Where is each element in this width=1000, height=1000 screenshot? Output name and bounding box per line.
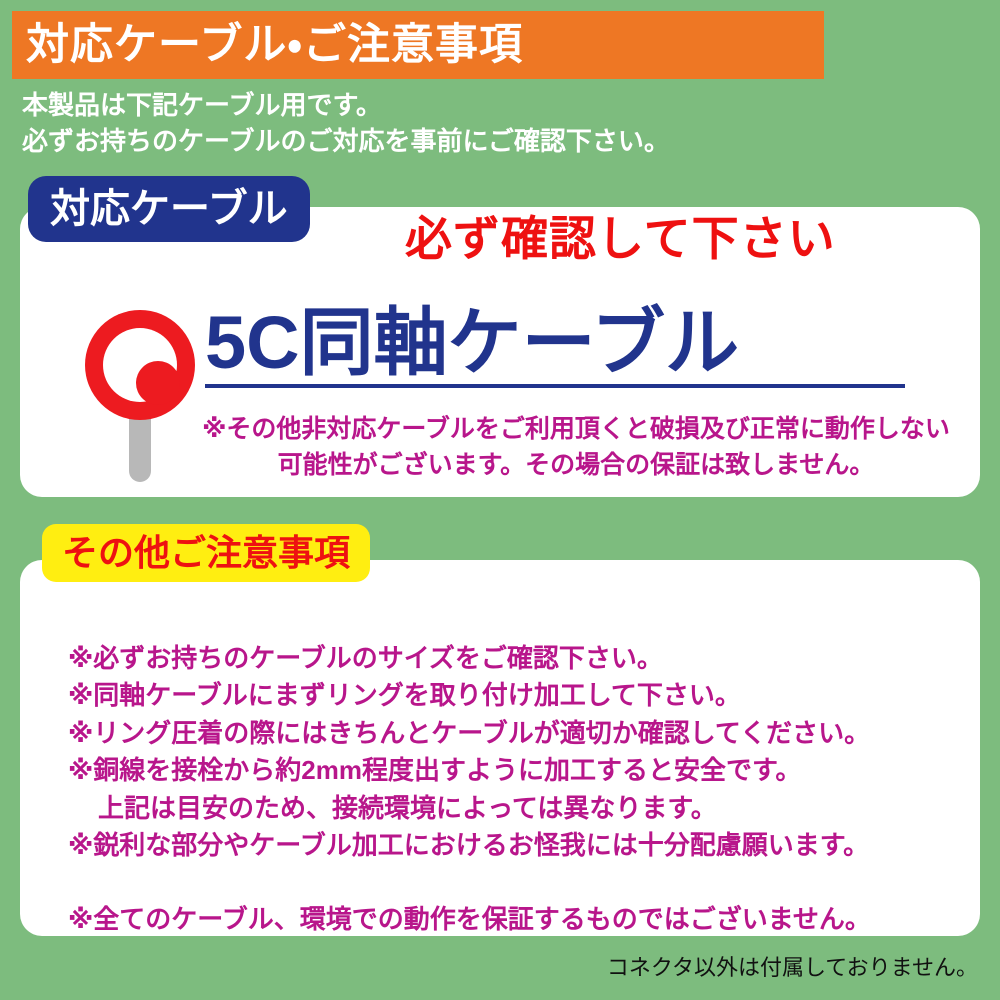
footer-note: コネクタ以外は付属しておりません。 — [607, 957, 978, 979]
note-item: ※リング圧着の際にはきちんとケーブルが適切か確認してください。 — [68, 715, 968, 752]
cable-note-line-2: 可能性がございます。その場合の保証は致しません。 — [196, 448, 956, 484]
cable-note-block: ※その他非対応ケーブルをご利用頂くと破損及び正常に動作しない 可能性がございます… — [196, 412, 956, 483]
intro-line-1: 本製品は下記ケーブル用です。 — [22, 88, 962, 124]
target-pin-icon — [85, 310, 195, 485]
intro-block: 本製品は下記ケーブル用です。 必ずお持ちのケーブルのご対応を事前にご確認下さい。 — [22, 88, 962, 160]
note-item: ※全てのケーブル、環境での動作を保証するものではございません。 — [68, 901, 968, 938]
note-item: ※同軸ケーブルにまずリングを取り付け加工して下さい。 — [68, 677, 968, 714]
note-item: 上記は目安のため、接続環境によっては異なります。 — [68, 790, 968, 827]
other-notes-list: ※必ずお持ちのケーブルのサイズをご確認下さい。 ※同軸ケーブルにまずリングを取り… — [68, 640, 968, 938]
note-item: ※必ずお持ちのケーブルのサイズをご確認下さい。 — [68, 640, 968, 677]
intro-line-2: 必ずお持ちのケーブルのご対応を事前にご確認下さい。 — [22, 124, 962, 160]
header-banner: 対応ケーブル・ご注意事項 — [12, 11, 824, 79]
compatible-cable-badge-label: 対応ケーブル — [50, 189, 288, 229]
target-pin-center-dot — [136, 361, 180, 405]
page-title: 対応ケーブル・ご注意事項 — [26, 24, 523, 67]
cable-name-block: 5C同軸ケーブル — [205, 306, 920, 388]
cable-note-line-1: ※その他非対応ケーブルをご利用頂くと破損及び正常に動作しない — [196, 412, 956, 448]
other-notes-badge: その他ご注意事項 — [42, 524, 370, 582]
cable-name-underline — [205, 384, 905, 388]
other-notes-badge-label: その他ご注意事項 — [62, 535, 350, 571]
target-pin-white-ring — [103, 328, 177, 402]
note-item: ※鋭利な部分やケーブル加工におけるお怪我には十分配慮願います。 — [68, 827, 968, 864]
target-pin-outer-ring — [85, 310, 195, 420]
product-notice-graphic: 対応ケーブル・ご注意事項 本製品は下記ケーブル用です。 必ずお持ちのケーブルのご… — [0, 0, 1000, 1000]
compatible-cable-badge: 対応ケーブル — [28, 176, 310, 242]
confirm-warning-text: 必ず確認して下さい — [405, 215, 836, 262]
note-item: ※銅線を接栓から約2mm程度出すように加工すると安全です。 — [68, 752, 968, 789]
cable-name: 5C同軸ケーブル — [205, 306, 920, 380]
